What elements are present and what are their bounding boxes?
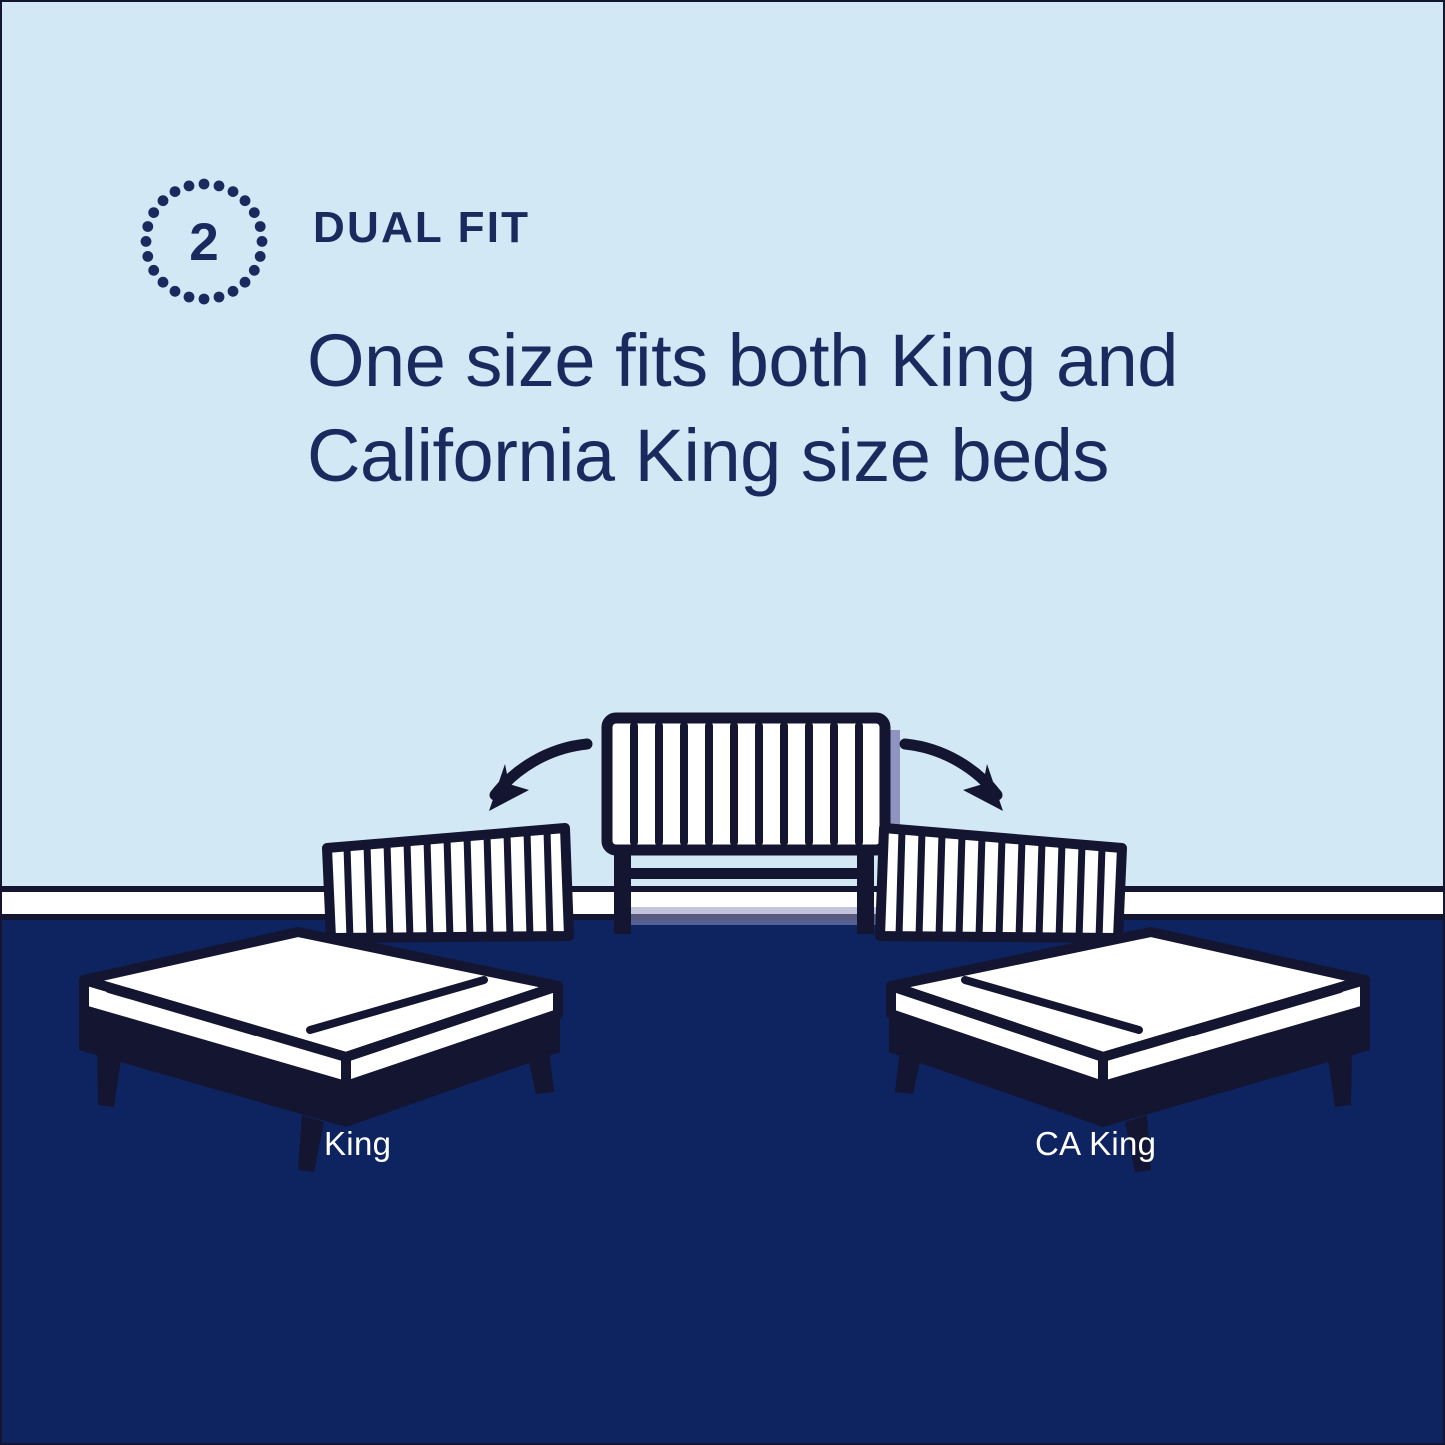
bed-label-king: King	[324, 1125, 391, 1163]
ca-king-headboard	[880, 828, 1122, 939]
bed-label-ca-king: CA King	[1035, 1125, 1156, 1163]
arrow-right	[905, 744, 1003, 811]
arrow-left	[489, 744, 587, 811]
bed-king	[79, 828, 569, 1172]
bed-ca-king	[880, 828, 1370, 1172]
king-headboard	[327, 828, 569, 939]
infographic-canvas: 2 DUAL FIT One size fits both King and C…	[0, 0, 1445, 1445]
center-headboard	[607, 718, 902, 934]
beds-illustration	[2, 2, 1445, 1445]
